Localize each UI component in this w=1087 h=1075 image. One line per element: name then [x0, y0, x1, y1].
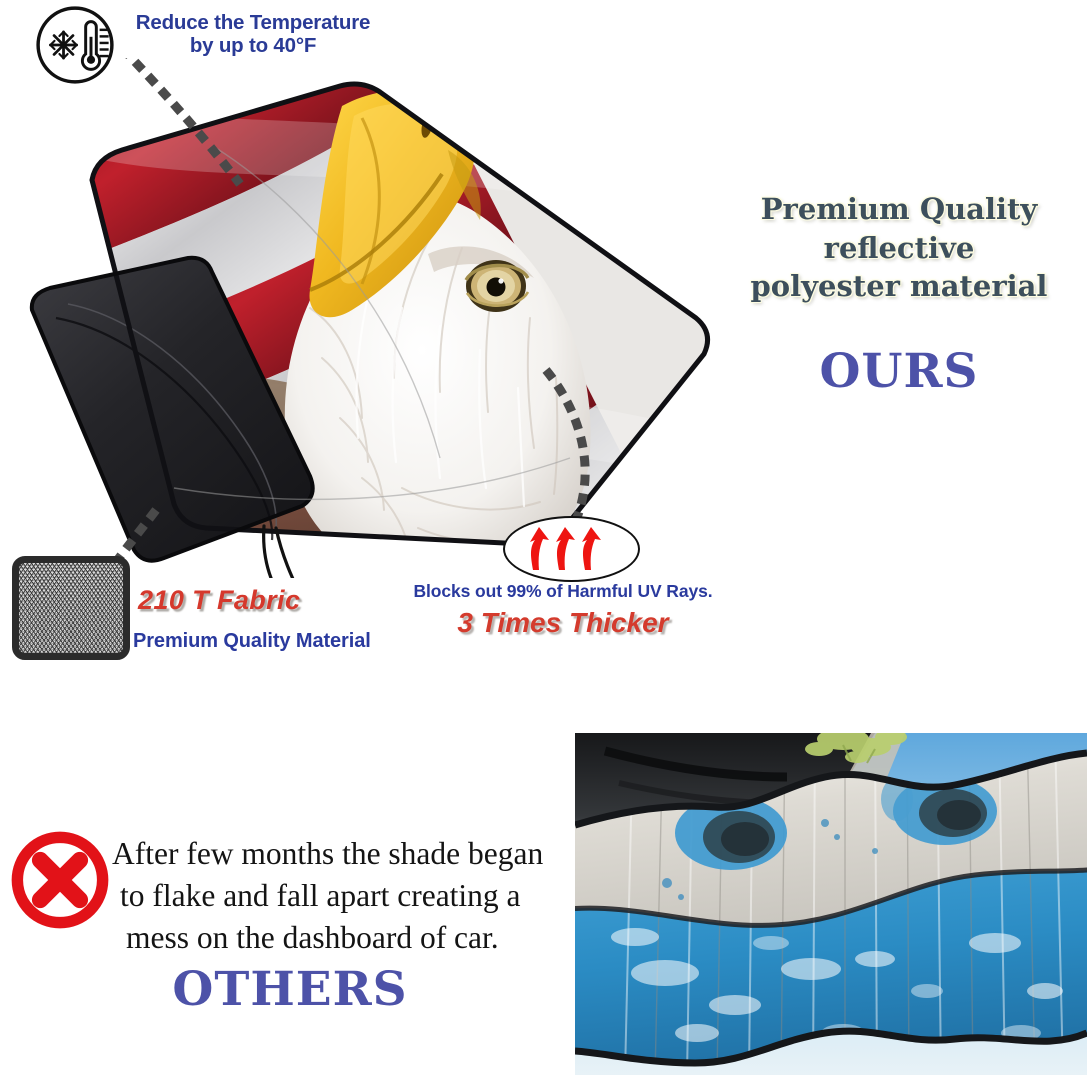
others-line-1: After few months the shade began	[108, 833, 590, 875]
uv-callout-text: Blocks out 99% of Harmful UV Rays.	[398, 581, 728, 602]
others-label: OTHERS	[120, 962, 460, 1017]
red-x-circle-icon	[8, 828, 112, 932]
others-line-2: to flake and fall apart creating a	[108, 875, 590, 917]
headline-line-2: reflective	[824, 231, 975, 265]
temperature-line-2: by up to 40°F	[190, 34, 316, 57]
fabric-subtitle: Premium Quality Material	[133, 630, 371, 653]
three-red-arrows-oval-icon	[503, 516, 640, 582]
thicker-callout-text: 3 Times Thicker	[398, 607, 728, 639]
others-line-3: mess on the dashboard of car.	[108, 917, 590, 959]
temperature-callout-text: Reduce the Temperature by up to 40°F	[122, 12, 384, 58]
temperature-line-1: Reduce the Temperature	[136, 11, 370, 34]
headline-line-1: Premium Quality	[761, 192, 1038, 226]
ours-label: OURS	[716, 344, 1082, 399]
headline-line-3: polyester material	[751, 269, 1048, 303]
ours-headline: Premium Quality reflective polyester mat…	[716, 190, 1082, 306]
fabric-title: 210 T Fabric	[138, 585, 300, 616]
others-description: After few months the shade began to flak…	[108, 833, 590, 959]
comparison-photo-worn-sunshade	[575, 733, 1087, 1075]
product-photo-sunshade	[10, 58, 722, 578]
fabric-swatch-icon	[12, 556, 130, 660]
infographic-page: Reduce the Temperature by up to 40°F	[0, 0, 1087, 1075]
